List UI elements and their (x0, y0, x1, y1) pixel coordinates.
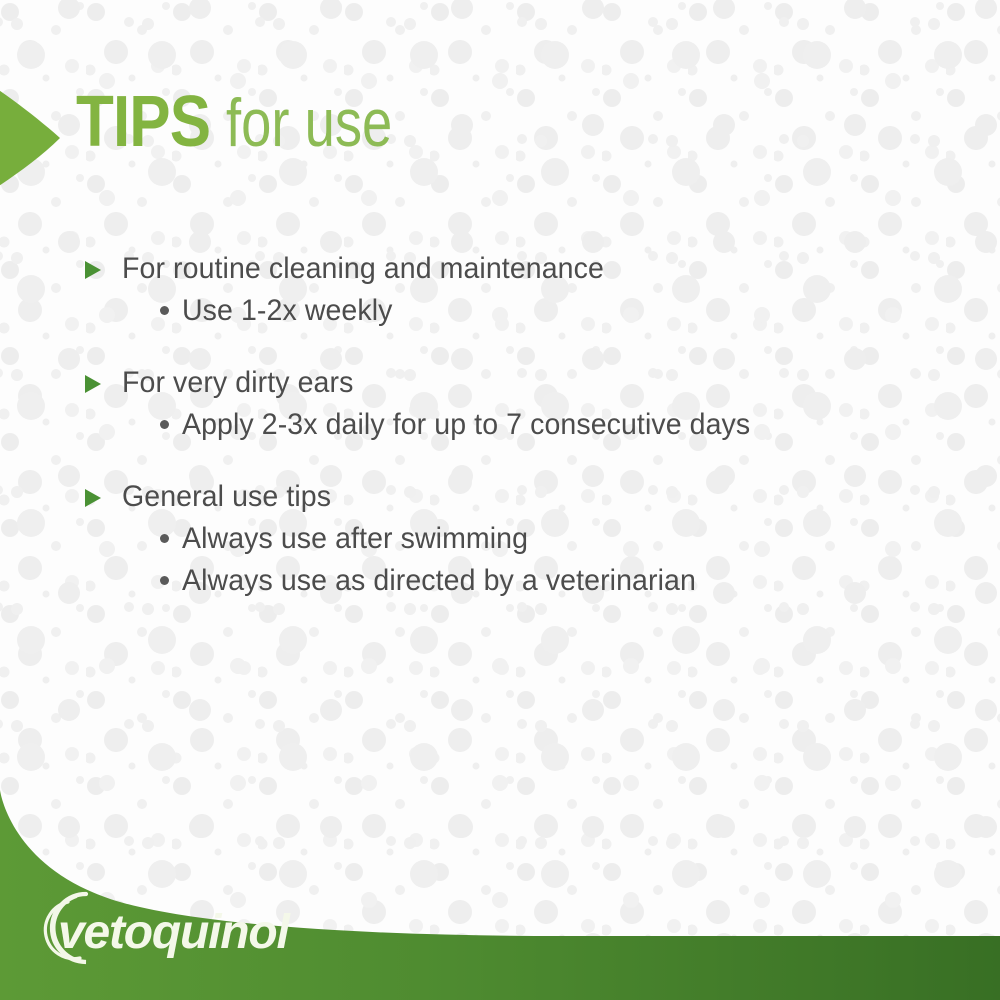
list-item: Apply 2-3x daily for up to 7 consecutive… (84, 408, 924, 442)
list-item: Use 1-2x weekly (84, 294, 924, 328)
tips-group-heading: For very dirty ears (84, 366, 924, 400)
page-title: TIPSfor use (76, 86, 434, 158)
tips-group: For very dirty ears Apply 2-3x daily for… (84, 366, 924, 442)
list-item: Always use as directed by a veterinarian (84, 564, 924, 598)
tips-group-heading: General use tips (84, 480, 924, 514)
list-item-label: Apply 2-3x daily for up to 7 consecutive… (182, 408, 750, 442)
dot-bullet-icon (160, 420, 169, 429)
page-title-strong: TIPS (76, 86, 210, 158)
triangle-right-icon (84, 374, 102, 394)
list-item-label: Always use after swimming (182, 522, 528, 556)
list-item-label: Use 1-2x weekly (182, 294, 392, 328)
dot-bullet-icon (160, 576, 169, 585)
tips-group: For routine cleaning and maintenance Use… (84, 252, 924, 328)
tips-sub-list: Use 1-2x weekly (84, 294, 924, 328)
tips-sub-list: Always use after swimming Always use as … (84, 522, 924, 598)
triangle-right-icon (84, 488, 102, 508)
tips-list: For routine cleaning and maintenance Use… (84, 252, 924, 598)
page-title-light: for use (226, 89, 392, 157)
tips-group: General use tips Always use after swimmi… (84, 480, 924, 598)
tips-group-heading-label: For very dirty ears (122, 366, 353, 400)
dot-bullet-icon (160, 306, 169, 315)
tips-sub-list: Apply 2-3x daily for up to 7 consecutive… (84, 408, 924, 442)
tips-group-heading-label: For routine cleaning and maintenance (122, 252, 604, 286)
header-chevron-arrow-icon (0, 70, 80, 210)
vetoquinol-wordmark: vetoquinol (58, 906, 292, 959)
vetoquinol-logo: vetoquinol (24, 872, 314, 982)
list-item-label: Always use as directed by a veterinarian (182, 564, 696, 598)
list-item: Always use after swimming (84, 522, 924, 556)
tips-for-use-card: TIPSfor use For routine cleaning and mai… (0, 0, 1000, 1000)
triangle-right-icon (84, 260, 102, 280)
tips-group-heading-label: General use tips (122, 480, 331, 514)
dot-bullet-icon (160, 534, 169, 543)
tips-group-heading: For routine cleaning and maintenance (84, 252, 924, 286)
